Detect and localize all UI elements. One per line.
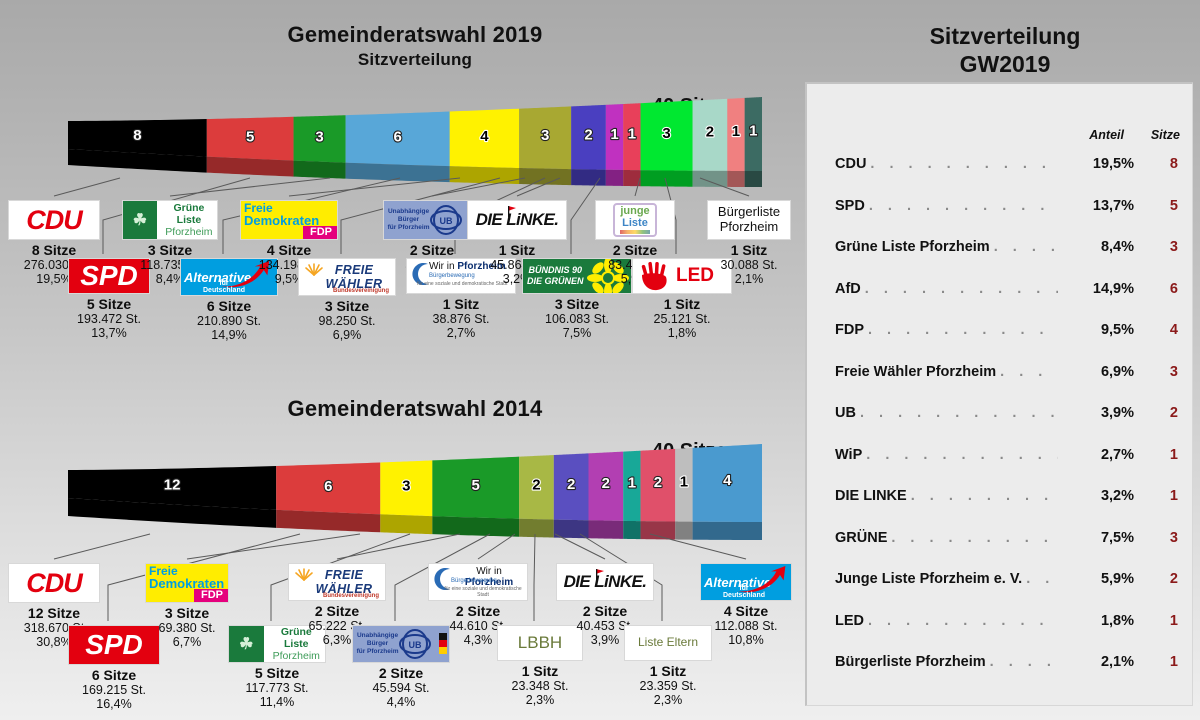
arc-segment-side [623, 521, 640, 539]
legend-votes: 30.088 St. [707, 258, 791, 272]
arc-segment-label: 2 [602, 475, 610, 492]
legend-item: FREIE WÄHLERBundesvereinigung3 Sitze98.2… [298, 258, 396, 343]
arc-segment-side [675, 522, 692, 540]
legend-seats: 1 Sitz [632, 296, 732, 312]
leader-dots: . . . . . . . . . . . . . . . . . . . . … [865, 281, 1058, 297]
panel-row-seats: 3 [1134, 530, 1178, 546]
legend-seats: 6 Sitze [68, 667, 160, 683]
panel-title-line1: Sitzverteilung [820, 22, 1190, 50]
legend-seats: 1 Sitz [624, 663, 712, 679]
arc-segment-label: 3 [402, 478, 410, 495]
gruene-liste-logo-mark: ☘Grüne ListePforzheim [123, 201, 217, 239]
panel-row-seats: 4 [1134, 322, 1178, 338]
party-logo: AlternativefürDeutschland [700, 563, 792, 601]
panel-row-share: 14,9% [1062, 281, 1134, 297]
party-logo: jungeListe [595, 200, 675, 240]
legend-item: BürgerlistePforzheim1 Sitz30.088 St.2,1% [707, 200, 791, 287]
panel-row-share: 6,9% [1062, 364, 1134, 380]
legend-seats: 8 Sitze [8, 242, 100, 258]
arc-segment-label: 1 [749, 123, 757, 140]
arc-segment-side [693, 522, 762, 540]
panel-row-seats: 2 [1134, 405, 1178, 421]
arc-segment-side [641, 170, 693, 187]
legend-seats: 3 Sitze [122, 242, 218, 258]
legend-percent: 6,7% [145, 635, 229, 649]
legend-percent: 7,5% [522, 326, 632, 340]
panel-row-party: Bürgerliste Pforzheim [835, 654, 986, 670]
wir-in-pforzheim-logo-mark: Wir in PforzheimBürgerbewegungfür eine s… [429, 564, 527, 600]
party-logo: CDU [8, 200, 100, 240]
afd-logo-mark: AlternativefürDeutschland [701, 564, 791, 600]
panel-row-share: 2,1% [1062, 654, 1134, 670]
panel-row-seats: 1 [1134, 447, 1178, 463]
column-header-anteil: Anteil [1032, 128, 1124, 142]
arc-segment-label: 1 [628, 126, 636, 143]
legend-votes: 169.215 St. [68, 683, 160, 697]
legend-percent: 13,7% [68, 326, 150, 340]
arc-segment-label: 1 [610, 126, 618, 143]
cdu-logo-mark: CDU [9, 201, 99, 239]
arc-segment-side [571, 169, 606, 186]
leader-dots: . . . . . . . . . . . . . . . . . . . . … [1000, 364, 1058, 380]
arc-segment-label: 2 [654, 474, 662, 491]
arc-segment-side [623, 170, 640, 186]
arc-segment-side [450, 166, 519, 184]
panel-row-seats: 2 [1134, 571, 1178, 587]
panel-row: Junge Liste Pforzheim e. V.. . . . . . .… [835, 571, 1178, 595]
arc-segment-side [294, 161, 346, 179]
panel-row-share: 3,9% [1062, 405, 1134, 421]
chart-2019-title: Gemeinderatswahl 2019 [180, 22, 650, 48]
panel-row-seats: 3 [1134, 364, 1178, 380]
freie-waehler-logo-mark: FREIE WÄHLERBundesvereinigung [289, 564, 385, 600]
panel-title: Sitzverteilung GW2019 [820, 22, 1190, 78]
ub-logo-mark: Unabhängige Bürgerfür PforzheimUB [384, 201, 480, 239]
legend-percent: 14,9% [180, 328, 278, 342]
arc-segment-label: 6 [324, 478, 332, 495]
panel-row: LED. . . . . . . . . . . . . . . . . . .… [835, 613, 1178, 637]
panel-row: GRÜNE. . . . . . . . . . . . . . . . . .… [835, 530, 1178, 554]
legend-votes: 106.083 St. [522, 312, 632, 326]
panel-row-seats: 8 [1134, 156, 1178, 172]
arc-segment-side [380, 514, 432, 534]
arc-segment-side [745, 171, 762, 187]
fdp-logo-mark: FreieDemokratenFDP [241, 201, 337, 239]
panel-row-party: UB [835, 405, 856, 421]
panel-row-party: Grüne Liste Pforzheim [835, 239, 990, 255]
legend-item: AlternativefürDeutschland4 Sitze112.088 … [700, 563, 792, 648]
legend-seats: 3 Sitze [522, 296, 632, 312]
leader-dots: . . . . . . . . . . . . . . . . . . . . … [869, 198, 1058, 214]
panel-row: Grüne Liste Pforzheim. . . . . . . . . .… [835, 239, 1178, 263]
panel-row-seats: 6 [1134, 281, 1178, 297]
panel-row-seats: 1 [1134, 613, 1178, 629]
panel-row: UB. . . . . . . . . . . . . . . . . . . … [835, 405, 1178, 429]
panel-row: DIE LINKE. . . . . . . . . . . . . . . .… [835, 488, 1178, 512]
panel-row-share: 13,7% [1062, 198, 1134, 214]
legend-percent: 2,1% [707, 272, 791, 286]
arc-segment-label: 2 [567, 476, 575, 493]
legend-percent: 10,8% [700, 633, 792, 647]
arc-segment-side [519, 519, 554, 538]
legend-seats: 3 Sitze [298, 298, 396, 314]
panel-row-seats: 1 [1134, 488, 1178, 504]
panel-row-share: 5,9% [1062, 571, 1134, 587]
die-linke-logo-mark: DIE LiNKE. [557, 564, 653, 600]
arc-segment-side [606, 170, 623, 186]
arc-segment-side [641, 521, 676, 539]
fdp-logo-mark: FreieDemokratenFDP [146, 564, 228, 602]
seat-distribution-panel: Anteil Sitze CDU. . . . . . . . . . . . … [805, 82, 1193, 706]
panel-row-party: Freie Wähler Pforzheim [835, 364, 996, 380]
leader-dots: . . . . . . . . . . . . . . . . . . . . … [891, 530, 1058, 546]
arc-segment-label: 4 [480, 128, 489, 145]
leader-dots: . . . . . . . . . . . . . . . . . . . . … [911, 488, 1058, 504]
panel-row-party: Junge Liste Pforzheim e. V. [835, 571, 1022, 587]
panel-row-share: 19,5% [1062, 156, 1134, 172]
panel-row: WiP. . . . . . . . . . . . . . . . . . .… [835, 447, 1178, 471]
legend-seats: 1 Sitz [406, 296, 516, 312]
column-header-sitze: Sitze [1124, 128, 1180, 142]
arc-segment-label: 8 [133, 127, 141, 144]
panel-row-share: 3,2% [1062, 488, 1134, 504]
arc-segment-label: 1 [732, 123, 740, 140]
seat-arc-2014: 126352221214 [50, 432, 770, 554]
leader-dots: . . . . . . . . . . . . . . . . . . . . … [1026, 571, 1058, 587]
legend-percent: 11,4% [228, 695, 326, 709]
legend-percent: 2,3% [497, 693, 583, 707]
arc-segment-label: 2 [532, 476, 540, 493]
cdu-logo-mark: CDU [9, 564, 99, 602]
legend-votes: 38.876 St. [406, 312, 516, 326]
party-logo: Liste Eltern [624, 625, 712, 661]
panel-row: FDP. . . . . . . . . . . . . . . . . . .… [835, 322, 1178, 346]
legend-votes: 98.250 St. [298, 314, 396, 328]
panel-row-share: 8,4% [1062, 239, 1134, 255]
legend-seats: 5 Sitze [228, 665, 326, 681]
panel-row: Freie Wähler Pforzheim. . . . . . . . . … [835, 364, 1178, 388]
buergerliste-logo-mark: BürgerlistePforzheim [708, 201, 790, 239]
panel-row-seats: 5 [1134, 198, 1178, 214]
arc-segment-label: 1 [680, 473, 688, 490]
freie-waehler-logo-mark: FREIE WÄHLERBundesvereinigung [299, 259, 395, 295]
arc-segment-side [519, 168, 571, 185]
leader-dots: . . . . . . . . . . . . . . . . . . . . … [868, 613, 1058, 629]
arc-segment-label: 2 [584, 126, 592, 143]
party-logo: FreieDemokratenFDP [240, 200, 338, 240]
legend-votes: 45.594 St. [352, 681, 450, 695]
liste-eltern-logo-mark: Liste Eltern [625, 626, 711, 660]
arc-segment-label: 5 [246, 128, 254, 145]
panel-row-party: AfD [835, 281, 861, 297]
legend-votes: 23.359 St. [624, 679, 712, 693]
party-logo: CDU [8, 563, 100, 603]
junge-liste-logo-mark: jungeListe [596, 201, 674, 239]
legend-votes: 25.121 St. [632, 312, 732, 326]
legend-seats: 2 Sitze [595, 242, 675, 258]
arc-segment-label: 6 [393, 128, 401, 145]
arc-segment-label: 2 [706, 124, 714, 141]
die-linke-logo-mark: DIE LiNKE. [468, 201, 566, 239]
arc-segment-side [693, 171, 728, 187]
arc-segment-label: 1 [628, 475, 636, 492]
arc-segment-label: 3 [662, 125, 670, 142]
party-logo: Wir in PforzheimBürgerbewegungfür eine s… [428, 563, 528, 601]
arc-segment-side [554, 520, 589, 539]
panel-row-share: 9,5% [1062, 322, 1134, 338]
legend-percent: 16,4% [68, 697, 160, 711]
legend-seats: 1 Sitz [467, 242, 567, 258]
panel-row: Bürgerliste Pforzheim. . . . . . . . . .… [835, 654, 1178, 678]
party-logo: DIE LiNKE. [556, 563, 654, 601]
chart-2019-subtitle: Sitzverteilung [180, 50, 650, 70]
legend-item: FreieDemokratenFDP3 Sitze69.380 St.6,7% [145, 563, 229, 650]
legend-votes: 210.890 St. [180, 314, 278, 328]
panel-row: CDU. . . . . . . . . . . . . . . . . . .… [835, 156, 1178, 180]
panel-row-party: CDU [835, 156, 866, 172]
legend-seats: 4 Sitze [240, 242, 338, 258]
arc-segment-label: 4 [723, 472, 732, 489]
leader-dots: . . . . . . . . . . . . . . . . . . . . … [868, 322, 1058, 338]
legend-seats: 2 Sitze [288, 603, 386, 619]
panel-row: AfD. . . . . . . . . . . . . . . . . . .… [835, 281, 1178, 305]
panel-row-party: SPD [835, 198, 865, 214]
party-logo: ☘Grüne ListePforzheim [122, 200, 218, 240]
legend-percent: 2,3% [624, 693, 712, 707]
panel-row-party: DIE LINKE [835, 488, 907, 504]
arc-segment-side [589, 520, 624, 539]
panel-row-seats: 3 [1134, 239, 1178, 255]
panel-row-share: 1,8% [1062, 613, 1134, 629]
panel-row-party: LED [835, 613, 864, 629]
panel-row-party: FDP [835, 322, 864, 338]
leader-dots: . . . . . . . . . . . . . . . . . . . . … [994, 239, 1058, 255]
svg-text:UB: UB [409, 640, 422, 650]
legend-votes: 69.380 St. [145, 621, 229, 635]
legend-seats: 3 Sitze [145, 605, 229, 621]
legend-seats: 2 Sitze [352, 665, 450, 681]
legend-seats: 4 Sitze [700, 603, 792, 619]
legend-seats: 1 Sitz [707, 242, 791, 258]
legend-seats: 12 Sitze [8, 605, 100, 621]
arc-segment-side [727, 171, 744, 187]
infographic-stage: Gemeinderatswahl 2019 Sitzverteilung 40 … [0, 0, 1200, 720]
party-logo: BürgerlistePforzheim [707, 200, 791, 240]
legend-percent: 4,4% [352, 695, 450, 709]
seat-arc-2019: 8536432113211 [50, 85, 770, 205]
panel-row-share: 2,7% [1062, 447, 1134, 463]
legend-percent: 6,9% [298, 328, 396, 342]
legend-votes: 117.773 St. [228, 681, 326, 695]
legend-seats: 2 Sitze [556, 603, 654, 619]
leader-dots: . . . . . . . . . . . . . . . . . . . . … [870, 156, 1058, 172]
panel-column-headers: Anteil Sitze [860, 128, 1180, 142]
legend-item: Liste Eltern1 Sitz23.359 St.2,3% [624, 625, 712, 708]
arc-segment-label: 12 [164, 477, 181, 494]
arc-segment-label: 3 [315, 129, 323, 146]
party-logo: FREIE WÄHLERBundesvereinigung [288, 563, 386, 601]
svg-text:UB: UB [440, 216, 453, 226]
arc-segment-label: 5 [472, 477, 480, 494]
panel-row-seats: 1 [1134, 654, 1178, 670]
legend-seats: 1 Sitz [497, 663, 583, 679]
leader-dots: . . . . . . . . . . . . . . . . . . . . … [860, 405, 1058, 421]
panel-row: SPD. . . . . . . . . . . . . . . . . . .… [835, 198, 1178, 222]
legend-votes: 23.348 St. [497, 679, 583, 693]
party-logo: DIE LiNKE. [467, 200, 567, 240]
panel-row-share: 7,5% [1062, 530, 1134, 546]
panel-row-party: WiP [835, 447, 862, 463]
panel-row-party: GRÜNE [835, 530, 887, 546]
legend-seats: 6 Sitze [180, 298, 278, 314]
legend-votes: 112.088 St. [700, 619, 792, 633]
legend-votes: 193.472 St. [68, 312, 150, 326]
legend-seats: 5 Sitze [68, 296, 150, 312]
leader-dots: . . . . . . . . . . . . . . . . . . . . … [990, 654, 1058, 670]
party-logo: FREIE WÄHLERBundesvereinigung [298, 258, 396, 296]
party-logo: FreieDemokratenFDP [145, 563, 229, 603]
arc-segment-label: 3 [541, 127, 549, 144]
legend-percent: 1,8% [632, 326, 732, 340]
panel-title-line2: GW2019 [820, 50, 1190, 78]
leader-dots: . . . . . . . . . . . . . . . . . . . . … [866, 447, 1058, 463]
legend-percent: 2,7% [406, 326, 516, 340]
arc-segment-side [432, 516, 519, 537]
chart-2014-title: Gemeinderatswahl 2014 [180, 396, 650, 422]
legend-seats: 2 Sitze [428, 603, 528, 619]
